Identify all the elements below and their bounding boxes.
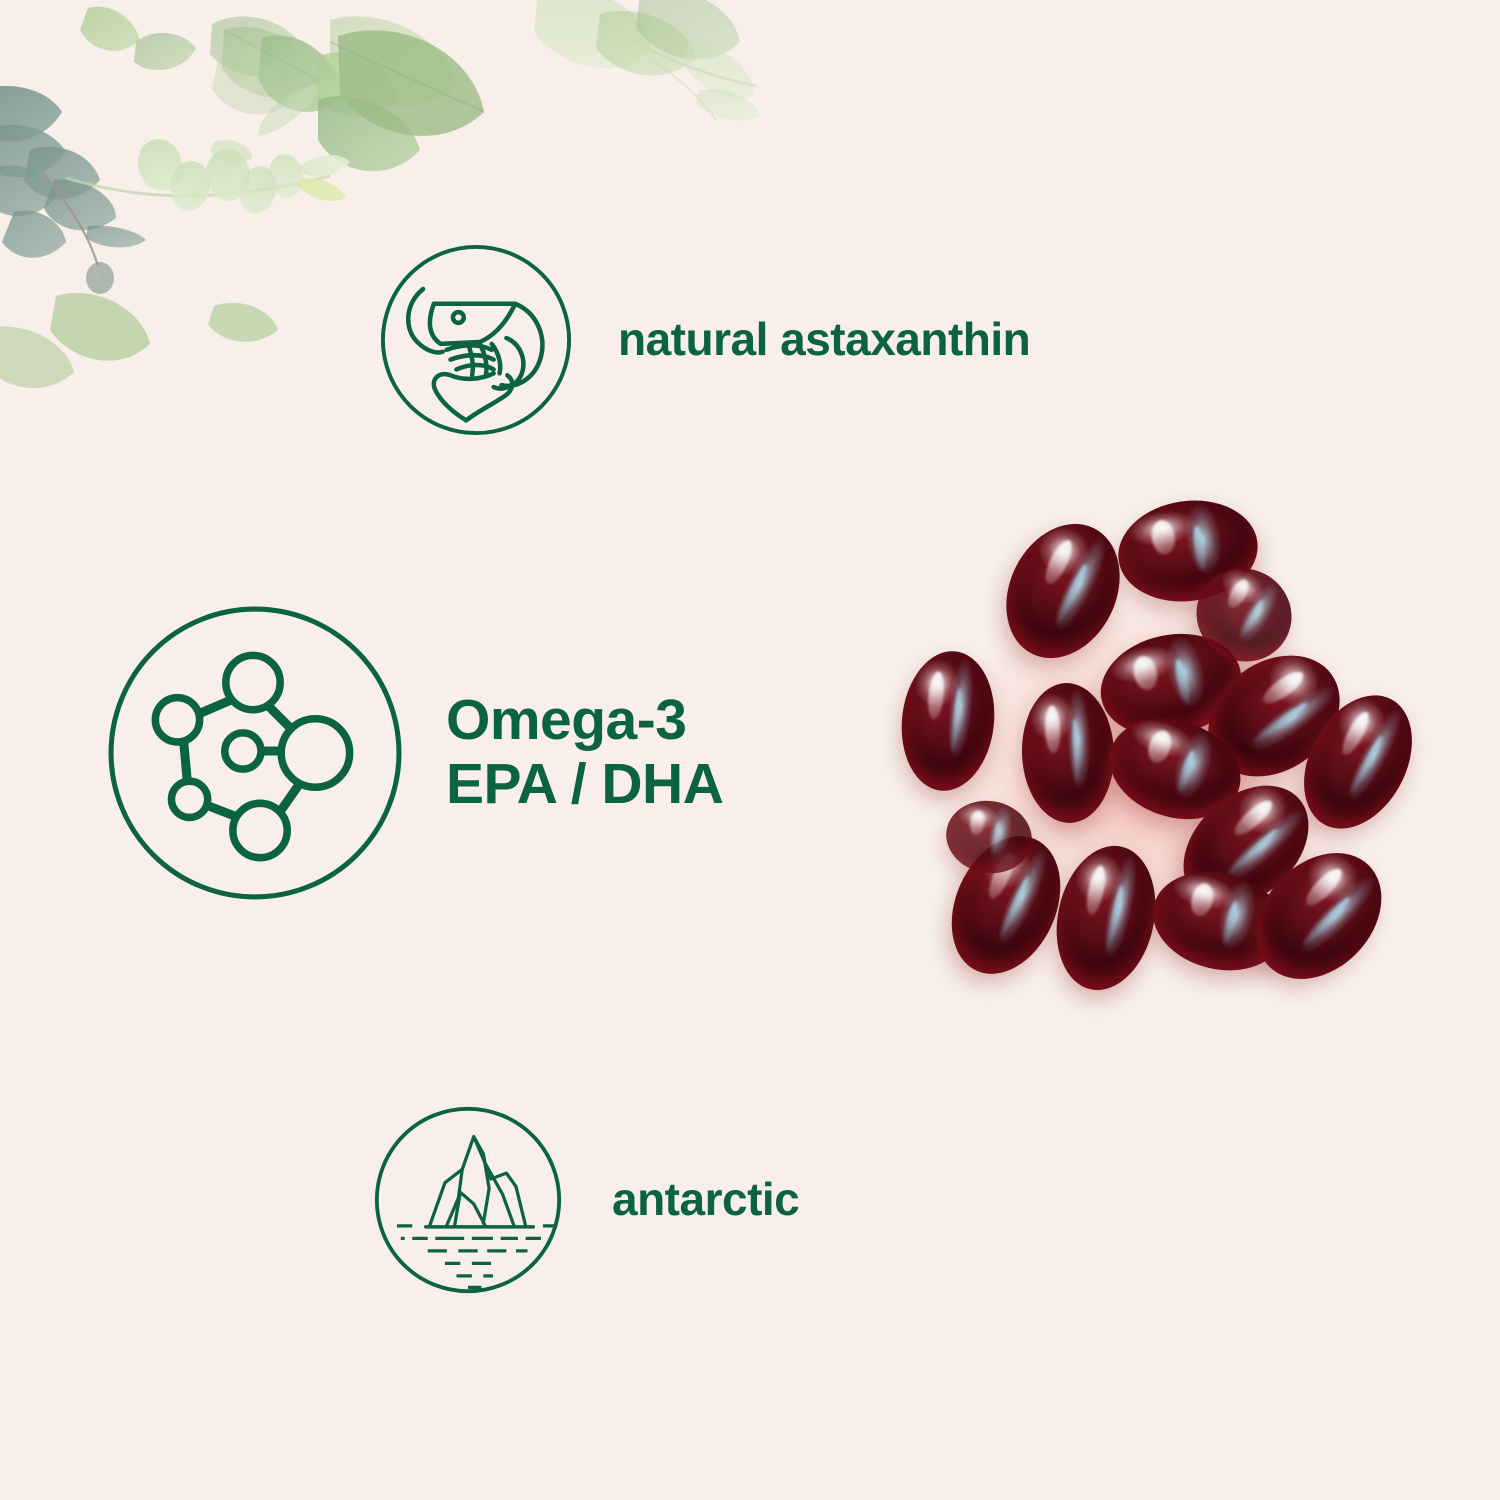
molecule-icon (104, 602, 406, 904)
leaf-big-right (330, 30, 484, 136)
product-feature-infographic: natural astaxanthin Omega-3 EPA / (0, 0, 1500, 1500)
leaf-sprig-upper (80, 7, 420, 172)
leaf-scattered-lower (0, 58, 290, 388)
iceberg-icon (372, 1104, 564, 1296)
shrimp-icon (378, 242, 574, 438)
feature-label-antarctic: antarctic (612, 1174, 799, 1226)
leaf-sprig-top-right (534, 0, 760, 121)
feature-natural-astaxanthin: natural astaxanthin (378, 242, 1030, 438)
krill-oil-capsules-image (890, 495, 1420, 1025)
feature-antarctic: antarctic (372, 1104, 799, 1296)
feature-label-natural-astaxanthin: natural astaxanthin (618, 314, 1030, 366)
leaf-large-center (222, 16, 456, 106)
feature-omega-3: Omega-3 EPA / DHA (104, 602, 723, 904)
eucalyptus-sprig-mid (66, 134, 350, 217)
leaf-cluster-far-left (0, 86, 146, 294)
feature-label-omega-3: Omega-3 EPA / DHA (446, 689, 723, 817)
